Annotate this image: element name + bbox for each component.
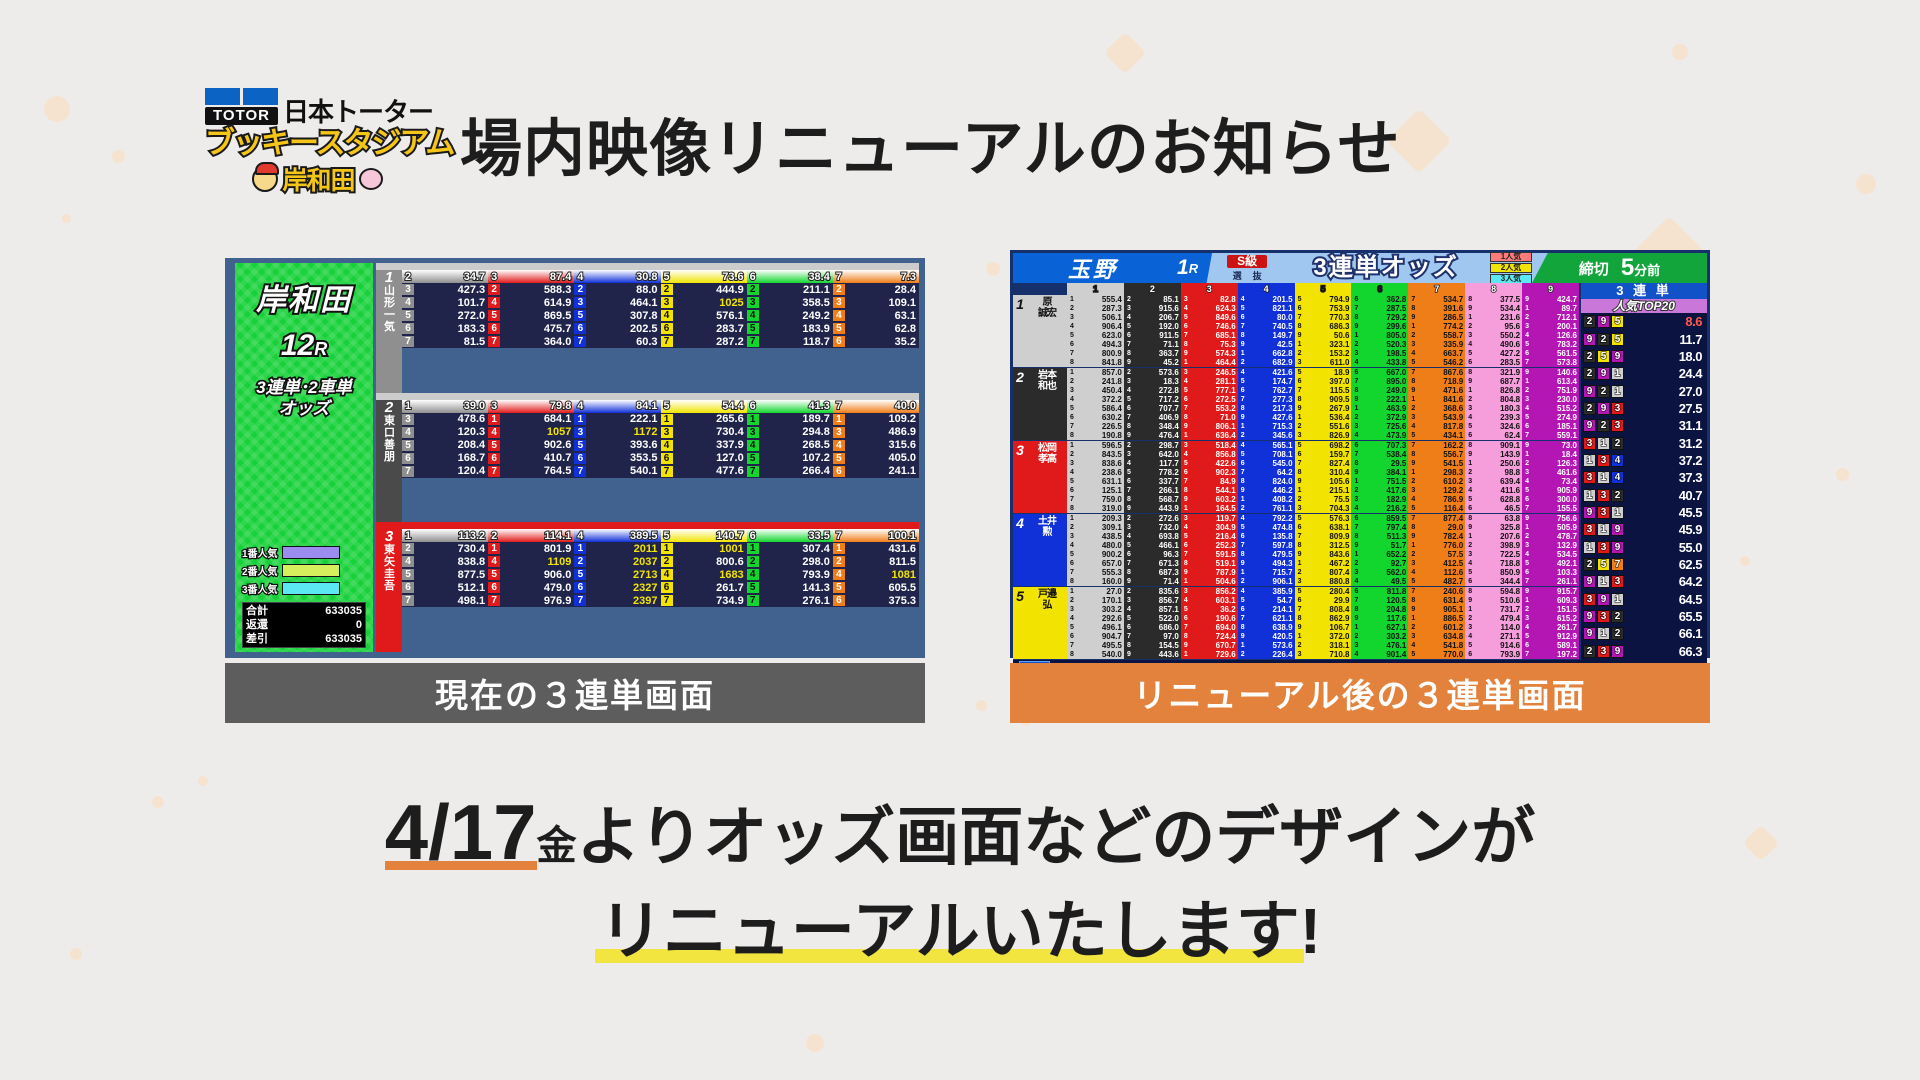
left-col-top-odds: 40.0 (845, 400, 919, 412)
left-odds-cell: 6375.3 (833, 594, 919, 607)
combination-number: 1 (1583, 541, 1596, 554)
right-odds-cell: 9541.5 (1408, 459, 1465, 468)
right-cell-key: 2 (1408, 477, 1418, 486)
class-sub-1: 選 (1233, 269, 1242, 282)
left-totals: 合計633035返還0差引633035 (242, 602, 366, 648)
right-cell-odds: 149.7 (1248, 331, 1295, 340)
left-cell-key: 6 (661, 582, 673, 593)
right-cell-key: 2 (1465, 395, 1475, 404)
top20-combination: 925 (1583, 333, 1624, 346)
right-cell-odds: 200.1 (1532, 322, 1579, 331)
right-cell-key: 9 (1238, 340, 1248, 349)
right-odds-cell: 3543.9 (1408, 413, 1465, 422)
right-cell-key: 4 (1067, 468, 1077, 477)
right-cell-odds: 29.9 (1305, 596, 1352, 605)
right-cell-odds: 304.9 (1191, 523, 1238, 532)
left-cell-odds: 877.5 (414, 569, 488, 581)
right-odds-cell: 4272.8 (1124, 386, 1181, 395)
left-cell-odds: 1025 (673, 297, 747, 309)
left-cell-odds: 588.3 (500, 284, 574, 296)
right-cell-odds: 515.2 (1532, 404, 1579, 413)
top20-combination: 259 (1583, 350, 1624, 363)
combination-number: 2 (1583, 402, 1596, 415)
right-cell-odds: 759.0 (1077, 495, 1124, 504)
renewal-dow: 金 (537, 824, 577, 868)
right-odds-cell: 5274.9 (1522, 413, 1579, 422)
left-odds-cell: 41109 (488, 555, 574, 568)
right-cell-key: 6 (1295, 377, 1305, 386)
right-odds-column: 6667.07895.08249.09222.11463.92372.93725… (1351, 368, 1408, 440)
right-racer-number: 1 (1013, 295, 1027, 367)
right-odds-cell: 1463.9 (1351, 404, 1408, 413)
right-cell-key: 3 (1124, 377, 1134, 386)
right-cell-odds: 209.3 (1077, 514, 1124, 523)
left-odds-cell: 3109.1 (833, 296, 919, 309)
right-cell-odds: 464.4 (1191, 358, 1238, 367)
right-cell-key: 5 (1465, 349, 1475, 358)
right-odds-cell: 3182.9 (1351, 495, 1408, 504)
left-racer-number: 2 (385, 401, 393, 415)
top20-row[interactable]: 2958.6 (1581, 313, 1707, 330)
combination-number: 2 (1611, 437, 1624, 450)
right-cell-odds: 877.4 (1418, 514, 1465, 523)
left-col-top-odds: 73.6 (673, 271, 747, 283)
right-cell-odds: 663.7 (1418, 349, 1465, 358)
left-cell-key: 2 (402, 543, 414, 554)
right-cell-key: 9 (1408, 459, 1418, 468)
left-racer-name-char: 東 (384, 544, 394, 556)
right-cell-key: 3 (1522, 395, 1532, 404)
right-cell-key: 6 (1067, 559, 1077, 568)
right-cell-key: 2 (1067, 523, 1077, 532)
top20-row[interactable]: 91266.1 (1581, 625, 1707, 642)
right-cell-odds: 715.3 (1248, 422, 1295, 431)
top20-row[interactable]: 92331.1 (1581, 417, 1707, 434)
left-legend-item: 3番人気 (242, 581, 366, 596)
right-cell-odds: 797.4 (1361, 523, 1408, 532)
right-cell-odds: 914.6 (1475, 641, 1522, 650)
right-cell-key: 6 (1351, 295, 1361, 304)
left-odds-cell: 12011 (574, 542, 660, 555)
right-odds-cell: 4117.7 (1124, 459, 1181, 468)
left-cell-odds: 730.4 (414, 543, 488, 555)
left-cell-key: 7 (747, 595, 759, 606)
right-cell-odds: 126.3 (1532, 459, 1579, 468)
right-cell-odds: 239.3 (1475, 413, 1522, 422)
top20-row[interactable]: 93145.5 (1581, 504, 1707, 521)
right-cell-key: 9 (1181, 568, 1191, 577)
right-odds-cell: 3615.2 (1522, 614, 1579, 623)
right-cell-key: 6 (1124, 331, 1134, 340)
right-cell-odds: 724.4 (1191, 632, 1238, 641)
right-cell-key: 4 (1522, 477, 1532, 486)
right-cell-key: 5 (1465, 495, 1475, 504)
top20-odds: 27.0 (1624, 384, 1705, 399)
right-cell-key: 9 (1295, 550, 1305, 559)
deadline-label: 締切 (1579, 258, 1609, 279)
right-cell-key: 8 (1408, 450, 1418, 459)
left-racer: 3東矢圭吾 (376, 529, 402, 652)
left-column-header: 379.8 (488, 400, 574, 413)
right-odds-cell: 1609.3 (1522, 596, 1579, 605)
top20-row[interactable]: 13955.0 (1581, 538, 1707, 555)
left-odds-cell: 6241.1 (833, 465, 919, 478)
left-cell-key: 2 (574, 556, 586, 567)
right-cell-odds: 886.5 (1418, 614, 1465, 623)
right-cell-key: 7 (1408, 587, 1418, 596)
right-cell-odds: 594.8 (1475, 587, 1522, 596)
left-total-value: 0 (356, 618, 362, 632)
right-cell-odds: 82.8 (1191, 295, 1238, 304)
right-cell-key: 7 (1238, 541, 1248, 550)
right-cell-odds: 129.2 (1418, 486, 1465, 495)
right-cell-odds: 902.3 (1191, 468, 1238, 477)
left-cell-odds: 107.2 (759, 452, 833, 464)
left-odds-column: 7100.11431.62811.5410815605.56375.3 (833, 529, 919, 652)
right-odds-cell: 2682.9 (1238, 358, 1295, 367)
right-odds-cell: 2241.8 (1067, 377, 1124, 386)
right-cell-odds: 482.7 (1418, 577, 1465, 586)
right-cell-odds: 534.5 (1532, 550, 1579, 559)
right-cell-key: 8 (1181, 632, 1191, 641)
left-odds-cell: 1222.1 (574, 413, 660, 426)
left-cell-key: 5 (574, 569, 586, 580)
top20-combination: 912 (1583, 627, 1624, 640)
left-col-key: 4 (574, 271, 586, 283)
right-cell-odds: 450.4 (1077, 386, 1124, 395)
left-cell-odds: 475.7 (500, 323, 574, 335)
left-column-header: 1113.2 (402, 529, 488, 542)
left-cell-key: 2 (661, 556, 673, 567)
left-odds-cell: 3358.5 (747, 296, 833, 309)
right-cell-key: 2 (1408, 331, 1418, 340)
right-cell-key: 9 (1238, 559, 1248, 568)
right-cell-odds: 540.0 (1077, 650, 1124, 659)
right-odds-cell: 945.2 (1124, 358, 1181, 367)
left-cell-odds: 902.6 (500, 439, 574, 451)
right-cell-odds: 841.6 (1418, 395, 1465, 404)
right-odds-cell: 9140.6 (1522, 368, 1579, 377)
left-cell-key: 6 (488, 323, 500, 334)
right-cell-key: 1 (1465, 532, 1475, 541)
top20-odds: 18.0 (1624, 349, 1705, 364)
right-cell-key: 5 (1181, 605, 1191, 614)
right-cell-key: 3 (1351, 568, 1361, 577)
left-cell-odds: 444.9 (673, 284, 747, 296)
right-cell-key: 7 (1295, 605, 1305, 614)
combination-number: 3 (1597, 541, 1610, 554)
left-odds-grid: 1山形一気234.73427.34101.75272.06183.3781.53… (376, 263, 919, 652)
right-odds-cell: 8204.8 (1351, 605, 1408, 614)
right-cell-odds: 98.8 (1475, 468, 1522, 477)
right-odds-cell: 2573.6 (1124, 368, 1181, 377)
right-odds-cell: 4281.1 (1181, 377, 1238, 386)
right-cell-key: 4 (1351, 504, 1361, 513)
right-cell-key: 3 (1181, 441, 1191, 450)
left-cell-odds: 1081 (845, 569, 919, 581)
right-cell-odds: 762.7 (1248, 386, 1295, 395)
left-col-key: 1 (402, 530, 414, 542)
right-odds-cell: 3114.0 (1465, 623, 1522, 632)
left-odds-cell: 288.0 (574, 283, 660, 296)
top20-row[interactable]: 31437.3 (1581, 469, 1707, 486)
right-odds-cell: 5777.1 (1181, 386, 1238, 395)
right-popularity-legend: 1人気2人気3人気 (1490, 253, 1532, 283)
right-cell-key: 7 (1067, 495, 1077, 504)
right-odds-column: 4565.15708.16545.0764.28824.09446.21408.… (1238, 441, 1295, 513)
right-cell-odds: 120.5 (1361, 596, 1408, 605)
right-cell-odds: 561.5 (1532, 349, 1579, 358)
top20-row[interactable]: 92127.0 (1581, 382, 1707, 399)
left-cell-key: 2 (488, 284, 500, 295)
combination-number: 9 (1597, 402, 1610, 415)
top20-row[interactable]: 25762.5 (1581, 556, 1707, 573)
combination-number: 5 (1611, 315, 1624, 328)
left-cell-odds: 294.8 (759, 426, 833, 438)
top20-row[interactable]: 91364.2 (1581, 573, 1707, 590)
right-cell-odds: 778.2 (1134, 468, 1181, 477)
right-odds-cell: 8718.9 (1408, 377, 1465, 386)
left-col-key: 5 (661, 271, 673, 283)
right-cell-odds: 707.3 (1361, 441, 1408, 450)
right-cell-odds: 841.8 (1077, 358, 1124, 367)
right-cell-odds: 226.5 (1077, 422, 1124, 431)
right-cell-key: 5 (1124, 322, 1134, 331)
right-cell-key: 2 (1522, 532, 1532, 541)
right-odds-cell: 2558.7 (1408, 331, 1465, 340)
stadium-location: 岸和田 (282, 161, 354, 197)
right-odds-cell: 554.7 (1238, 596, 1295, 605)
right-cell-odds: 160.0 (1077, 577, 1124, 586)
right-odds-cell: 3550.2 (1465, 331, 1522, 340)
top20-odds: 65.5 (1624, 609, 1705, 624)
right-cell-key: 6 (1295, 523, 1305, 532)
left-cell-odds: 2037 (586, 556, 660, 568)
right-cell-key: 1 (1522, 596, 1532, 605)
right-odds-cell: 9443.9 (1124, 504, 1181, 513)
right-odds-cell: 4304.9 (1181, 523, 1238, 532)
right-cell-odds: 126.6 (1532, 331, 1579, 340)
right-cell-key: 3 (1067, 313, 1077, 322)
left-odds-group: 1山形一気234.73427.34101.75272.06183.3781.53… (376, 263, 919, 393)
right-odds-cell: 8160.0 (1067, 577, 1124, 586)
left-col-key: 7 (833, 530, 845, 542)
top20-combination: 391 (1583, 593, 1624, 606)
top20-row[interactable]: 25918.0 (1581, 348, 1707, 365)
right-odds-column: 4421.65174.76762.77277.38217.39427.61715… (1238, 368, 1295, 440)
left-col-top-odds: 30.8 (586, 271, 660, 283)
right-cell-odds: 609.3 (1532, 596, 1579, 605)
right-cell-key: 5 (1238, 523, 1248, 532)
left-cell-key: 7 (488, 336, 500, 347)
left-odds-column: 234.73427.34101.75272.06183.3781.5 (402, 270, 488, 393)
right-odds-cell: 8321.9 (1465, 368, 1522, 377)
left-cell-key: 6 (574, 582, 586, 593)
top20-row[interactable]: 31945.9 (1581, 521, 1707, 538)
right-odds-cell: 784.9 (1181, 477, 1238, 486)
right-col-header: 5 (1295, 283, 1352, 295)
left-cell-odds: 109.1 (845, 297, 919, 309)
right-cell-key: 3 (1124, 450, 1134, 459)
right-col-header: 2 (1124, 283, 1181, 295)
right-cell-key: 6 (1351, 514, 1361, 523)
right-odds-cell: 9510.6 (1465, 596, 1522, 605)
left-odds-cell: 6168.7 (402, 452, 488, 465)
left-cell-key: 4 (402, 297, 414, 308)
right-odds-cell: 5522.0 (1124, 614, 1181, 623)
combination-number: 9 (1583, 506, 1596, 519)
right-odds-cell: 2309.1 (1067, 523, 1124, 532)
right-odds-cell: 9117.6 (1351, 614, 1408, 623)
left-col-key: 6 (747, 400, 759, 412)
left-cell-odds: 764.5 (500, 465, 574, 477)
left-col-key: 4 (574, 400, 586, 412)
right-odds-cell: 8348.4 (1124, 422, 1181, 431)
right-cell-odds: 75.3 (1191, 340, 1238, 349)
right-cell-key: 9 (1522, 295, 1532, 304)
right-cell-key: 5 (1238, 377, 1248, 386)
right-cell-key: 7 (1295, 532, 1305, 541)
right-cell-odds: 479.5 (1248, 550, 1295, 559)
right-cell-key: 8 (1295, 322, 1305, 331)
right-odds-cell: 9267.9 (1295, 404, 1352, 413)
message-line-2: リニューアルいたします! (0, 888, 1920, 974)
right-odds-cell: 9286.5 (1408, 313, 1465, 322)
right-cell-odds: 54.7 (1248, 596, 1295, 605)
top20-row[interactable]: 93265.5 (1581, 608, 1707, 625)
left-odds-cell: 6475.7 (488, 322, 574, 335)
right-cell-key: 5 (1522, 632, 1532, 641)
combination-number: 9 (1583, 385, 1596, 398)
right-racer-name: 原誠宏 (1027, 295, 1067, 367)
top20-row[interactable]: 39164.5 (1581, 591, 1707, 608)
right-odds-cell: 2126.3 (1522, 459, 1579, 468)
left-odds-cell: 7734.9 (661, 594, 747, 607)
left-cell-odds: 208.4 (414, 439, 488, 451)
right-cell-key: 3 (1465, 477, 1475, 486)
left-col-top-odds: 84.1 (586, 400, 660, 412)
top20-odds: 37.2 (1624, 453, 1705, 468)
left-cell-odds: 576.1 (673, 310, 747, 322)
top20-row[interactable]: 29327.5 (1581, 400, 1707, 417)
top20-combination: 932 (1583, 610, 1624, 623)
right-cell-key: 5 (1408, 650, 1418, 659)
left-cell-odds: 81.5 (414, 336, 488, 348)
top20-row[interactable]: 31231.2 (1581, 434, 1707, 451)
right-odds-cell: 7621.1 (1238, 614, 1295, 623)
combination-number: 3 (1597, 489, 1610, 502)
left-odds-column: 1113.22730.44838.85877.56512.17498.1 (402, 529, 488, 652)
right-odds-cell: 8149.7 (1238, 331, 1295, 340)
right-odds-cell: 2712.1 (1522, 313, 1579, 322)
left-cell-odds: 811.5 (845, 556, 919, 568)
right-cell-odds: 62.4 (1475, 431, 1522, 440)
right-cell-odds: 804.8 (1475, 395, 1522, 404)
right-cell-odds: 562.0 (1361, 568, 1408, 577)
right-cell-key: 7 (1351, 523, 1361, 532)
top20-combination: 257 (1583, 558, 1624, 571)
right-odds-column: 9915.71609.32151.53615.24261.75912.96589… (1522, 587, 1579, 659)
left-cell-key: 5 (574, 440, 586, 451)
right-cell-key: 5 (1067, 404, 1077, 413)
left-odds-column: 2114.11801.9411095906.06479.07976.9 (488, 529, 574, 652)
right-cell-key: 8 (1181, 413, 1191, 422)
decor-dot (1836, 468, 1849, 481)
right-cell-odds: 474.8 (1248, 523, 1295, 532)
right-cell-odds: 480.0 (1077, 541, 1124, 550)
right-cell-key: 2 (1522, 386, 1532, 395)
left-cell-key: 4 (747, 310, 759, 321)
left-cell-odds: 405.0 (845, 452, 919, 464)
top20-row[interactable]: 92511.7 (1581, 330, 1707, 347)
right-odds-cell: 2398.9 (1465, 541, 1522, 550)
right-cell-key: 8 (1067, 504, 1077, 513)
right-cell-key: 4 (1124, 386, 1134, 395)
right-odds-cell: 4112.6 (1408, 568, 1465, 577)
left-col-top-odds: 33.5 (759, 530, 833, 542)
left-cell-odds: 464.1 (586, 297, 660, 309)
right-cell-odds: 722.5 (1475, 550, 1522, 559)
right-cell-odds: 433.8 (1361, 358, 1408, 367)
left-odds-cell: 4120.3 (402, 426, 488, 439)
right-cell-key: 7 (1124, 340, 1134, 349)
right-cell-key: 7 (1408, 441, 1418, 450)
right-cell-key: 6 (1181, 541, 1191, 550)
right-odds-cell: 3132.9 (1522, 541, 1579, 550)
right-odds-cell: 797.0 (1124, 632, 1181, 641)
right-odds-cell: 9446.2 (1238, 486, 1295, 495)
right-cell-key: 8 (1351, 605, 1361, 614)
right-odds-cell: 9574.3 (1181, 349, 1238, 358)
top20-row[interactable]: 23966.3 (1581, 643, 1707, 660)
right-odds-cell: 3119.7 (1181, 514, 1238, 523)
left-cell-key: 3 (833, 297, 845, 308)
right-odds-cell: 8824.0 (1238, 477, 1295, 486)
right-odds-column: 1857.02241.83450.44372.25586.46630.27226… (1067, 368, 1124, 440)
right-cell-odds: 277.3 (1248, 395, 1295, 404)
right-odds-cell: 8631.4 (1408, 596, 1465, 605)
left-odds-cell: 41081 (833, 568, 919, 581)
right-odds-cell: 8556.7 (1408, 450, 1465, 459)
right-odds-cell: 275.5 (1295, 495, 1352, 504)
right-cell-odds: 64.2 (1248, 468, 1295, 477)
left-odds-cell: 62327 (574, 581, 660, 594)
top20-row[interactable]: 13240.7 (1581, 486, 1707, 503)
right-odds-cell: 9534.4 (1465, 304, 1522, 313)
top20-row[interactable]: 29124.4 (1581, 365, 1707, 382)
right-cell-key: 8 (1408, 596, 1418, 605)
right-cell-odds: 198.5 (1361, 349, 1408, 358)
right-odds-cell: 6753.9 (1295, 304, 1352, 313)
right-cell-key: 9 (1238, 413, 1248, 422)
right-cell-odds: 546.2 (1418, 358, 1465, 367)
right-cell-key: 4 (1408, 349, 1418, 358)
right-odds-cell: 8841.8 (1067, 358, 1124, 367)
right-odds-cell: 5821.1 (1238, 304, 1295, 313)
right-cell-key: 7 (1067, 568, 1077, 577)
right-cell-odds: 85.1 (1134, 295, 1181, 304)
right-odds-column: 6362.87287.58729.29299.61805.02520.33198… (1351, 295, 1408, 367)
right-odds-cell: 3732.0 (1124, 523, 1181, 532)
right-cell-odds: 271.1 (1475, 632, 1522, 641)
top20-odds: 8.6 (1624, 314, 1705, 329)
right-cell-key: 5 (1465, 568, 1475, 577)
combination-number: 9 (1583, 575, 1596, 588)
top20-row[interactable]: 13437.2 (1581, 452, 1707, 469)
left-odds-cell: 5393.6 (574, 439, 660, 452)
right-cell-key: 3 (1408, 559, 1418, 568)
left-odds-cell: 228.4 (833, 283, 919, 296)
